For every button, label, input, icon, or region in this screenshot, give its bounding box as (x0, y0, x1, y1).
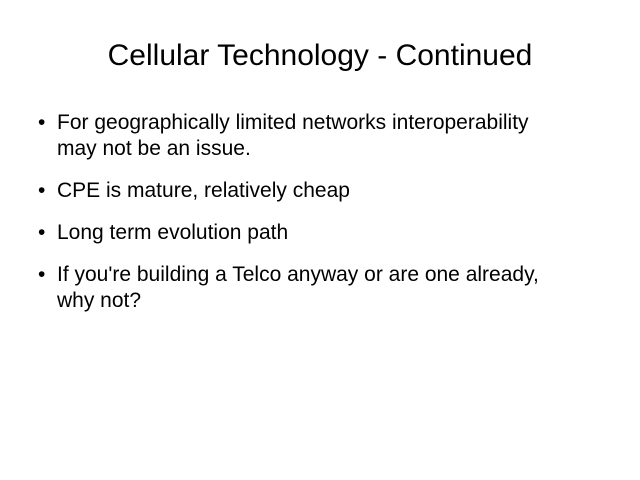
list-item-text: If you're building a Telco anyway or are… (57, 262, 569, 314)
list-item-text: Long term evolution path (57, 220, 569, 246)
list-item-text: For geographically limited networks inte… (57, 110, 569, 162)
list-item: • If you're building a Telco anyway or a… (30, 262, 590, 314)
list-item: • Long term evolution path (30, 220, 590, 246)
list-item: • CPE is mature, relatively cheap (30, 178, 590, 204)
list-item-text: CPE is mature, relatively cheap (57, 178, 569, 204)
slide-title: Cellular Technology - Continued (0, 38, 640, 74)
bullet-point-icon: • (38, 262, 50, 288)
bullet-point-icon: • (38, 220, 50, 246)
bullet-point-icon: • (38, 110, 50, 136)
presentation-slide: Cellular Technology - Continued • For ge… (0, 0, 640, 480)
list-item: • For geographically limited networks in… (30, 110, 590, 162)
bullet-point-icon: • (38, 178, 50, 204)
slide-bullet-list: • For geographically limited networks in… (30, 110, 590, 314)
